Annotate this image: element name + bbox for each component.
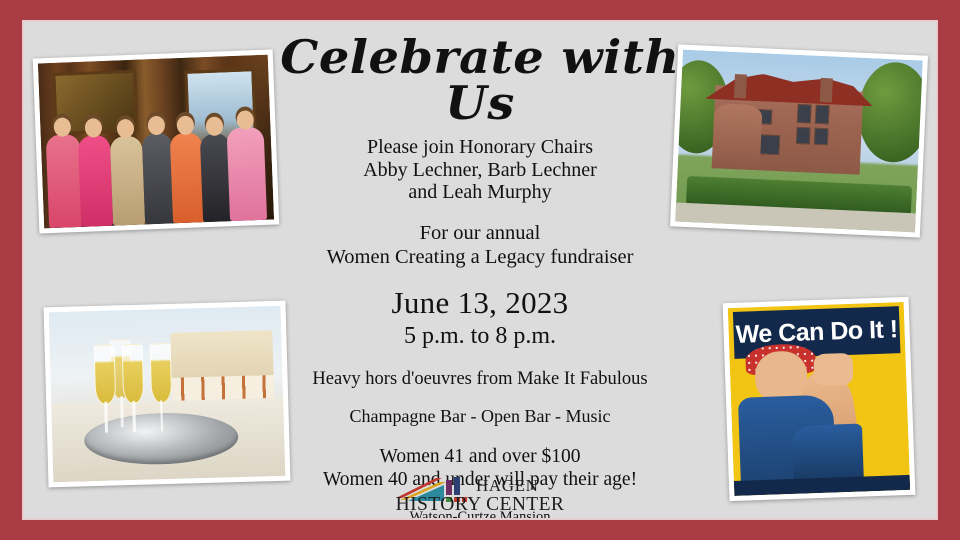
event-flyer: We Can Do It ! Celebrate with Us Please … xyxy=(0,0,960,540)
flyer-text-column: Celebrate with Us Please join Honorary C… xyxy=(279,22,681,518)
flyer-canvas: We Can Do It ! Celebrate with Us Please … xyxy=(24,22,936,518)
catering-line: Heavy hors d'oeuvres from Make It Fabulo… xyxy=(279,369,681,390)
chairs-line-3: and Leah Murphy xyxy=(279,181,681,204)
logo-name-bottom: HISTORY CENTER xyxy=(390,494,570,516)
chairs-line-2: Abby Lechner, Barb Lechner xyxy=(279,159,681,182)
flyer-title: Celebrate with Us xyxy=(271,34,689,126)
photo-women-group xyxy=(33,49,280,233)
event-date: June 13, 2023 xyxy=(279,286,681,321)
price-line-1: Women 41 and over $100 xyxy=(279,446,681,469)
event-time: 5 p.m. to 8 p.m. xyxy=(279,323,681,351)
annual-line-1: For our annual xyxy=(279,221,681,246)
photo-watson-curtze-mansion xyxy=(670,44,928,237)
event-description: For our annual Women Creating a Legacy f… xyxy=(279,221,681,270)
chairs-line-1: Please join Honorary Chairs xyxy=(279,136,681,159)
annual-line-2: Women Creating a Legacy fundraiser xyxy=(279,245,681,270)
honorary-chairs: Please join Honorary Chairs Abby Lechner… xyxy=(279,136,681,204)
logo-name-top: HAGEN xyxy=(476,476,539,496)
poster-we-can-do-it: We Can Do It ! xyxy=(723,297,916,501)
hagen-history-center-logo: HAGEN HISTORY CENTER xyxy=(279,474,681,518)
photo-champagne-tray xyxy=(44,301,291,488)
amenities-line: Champagne Bar - Open Bar - Music xyxy=(279,406,681,427)
